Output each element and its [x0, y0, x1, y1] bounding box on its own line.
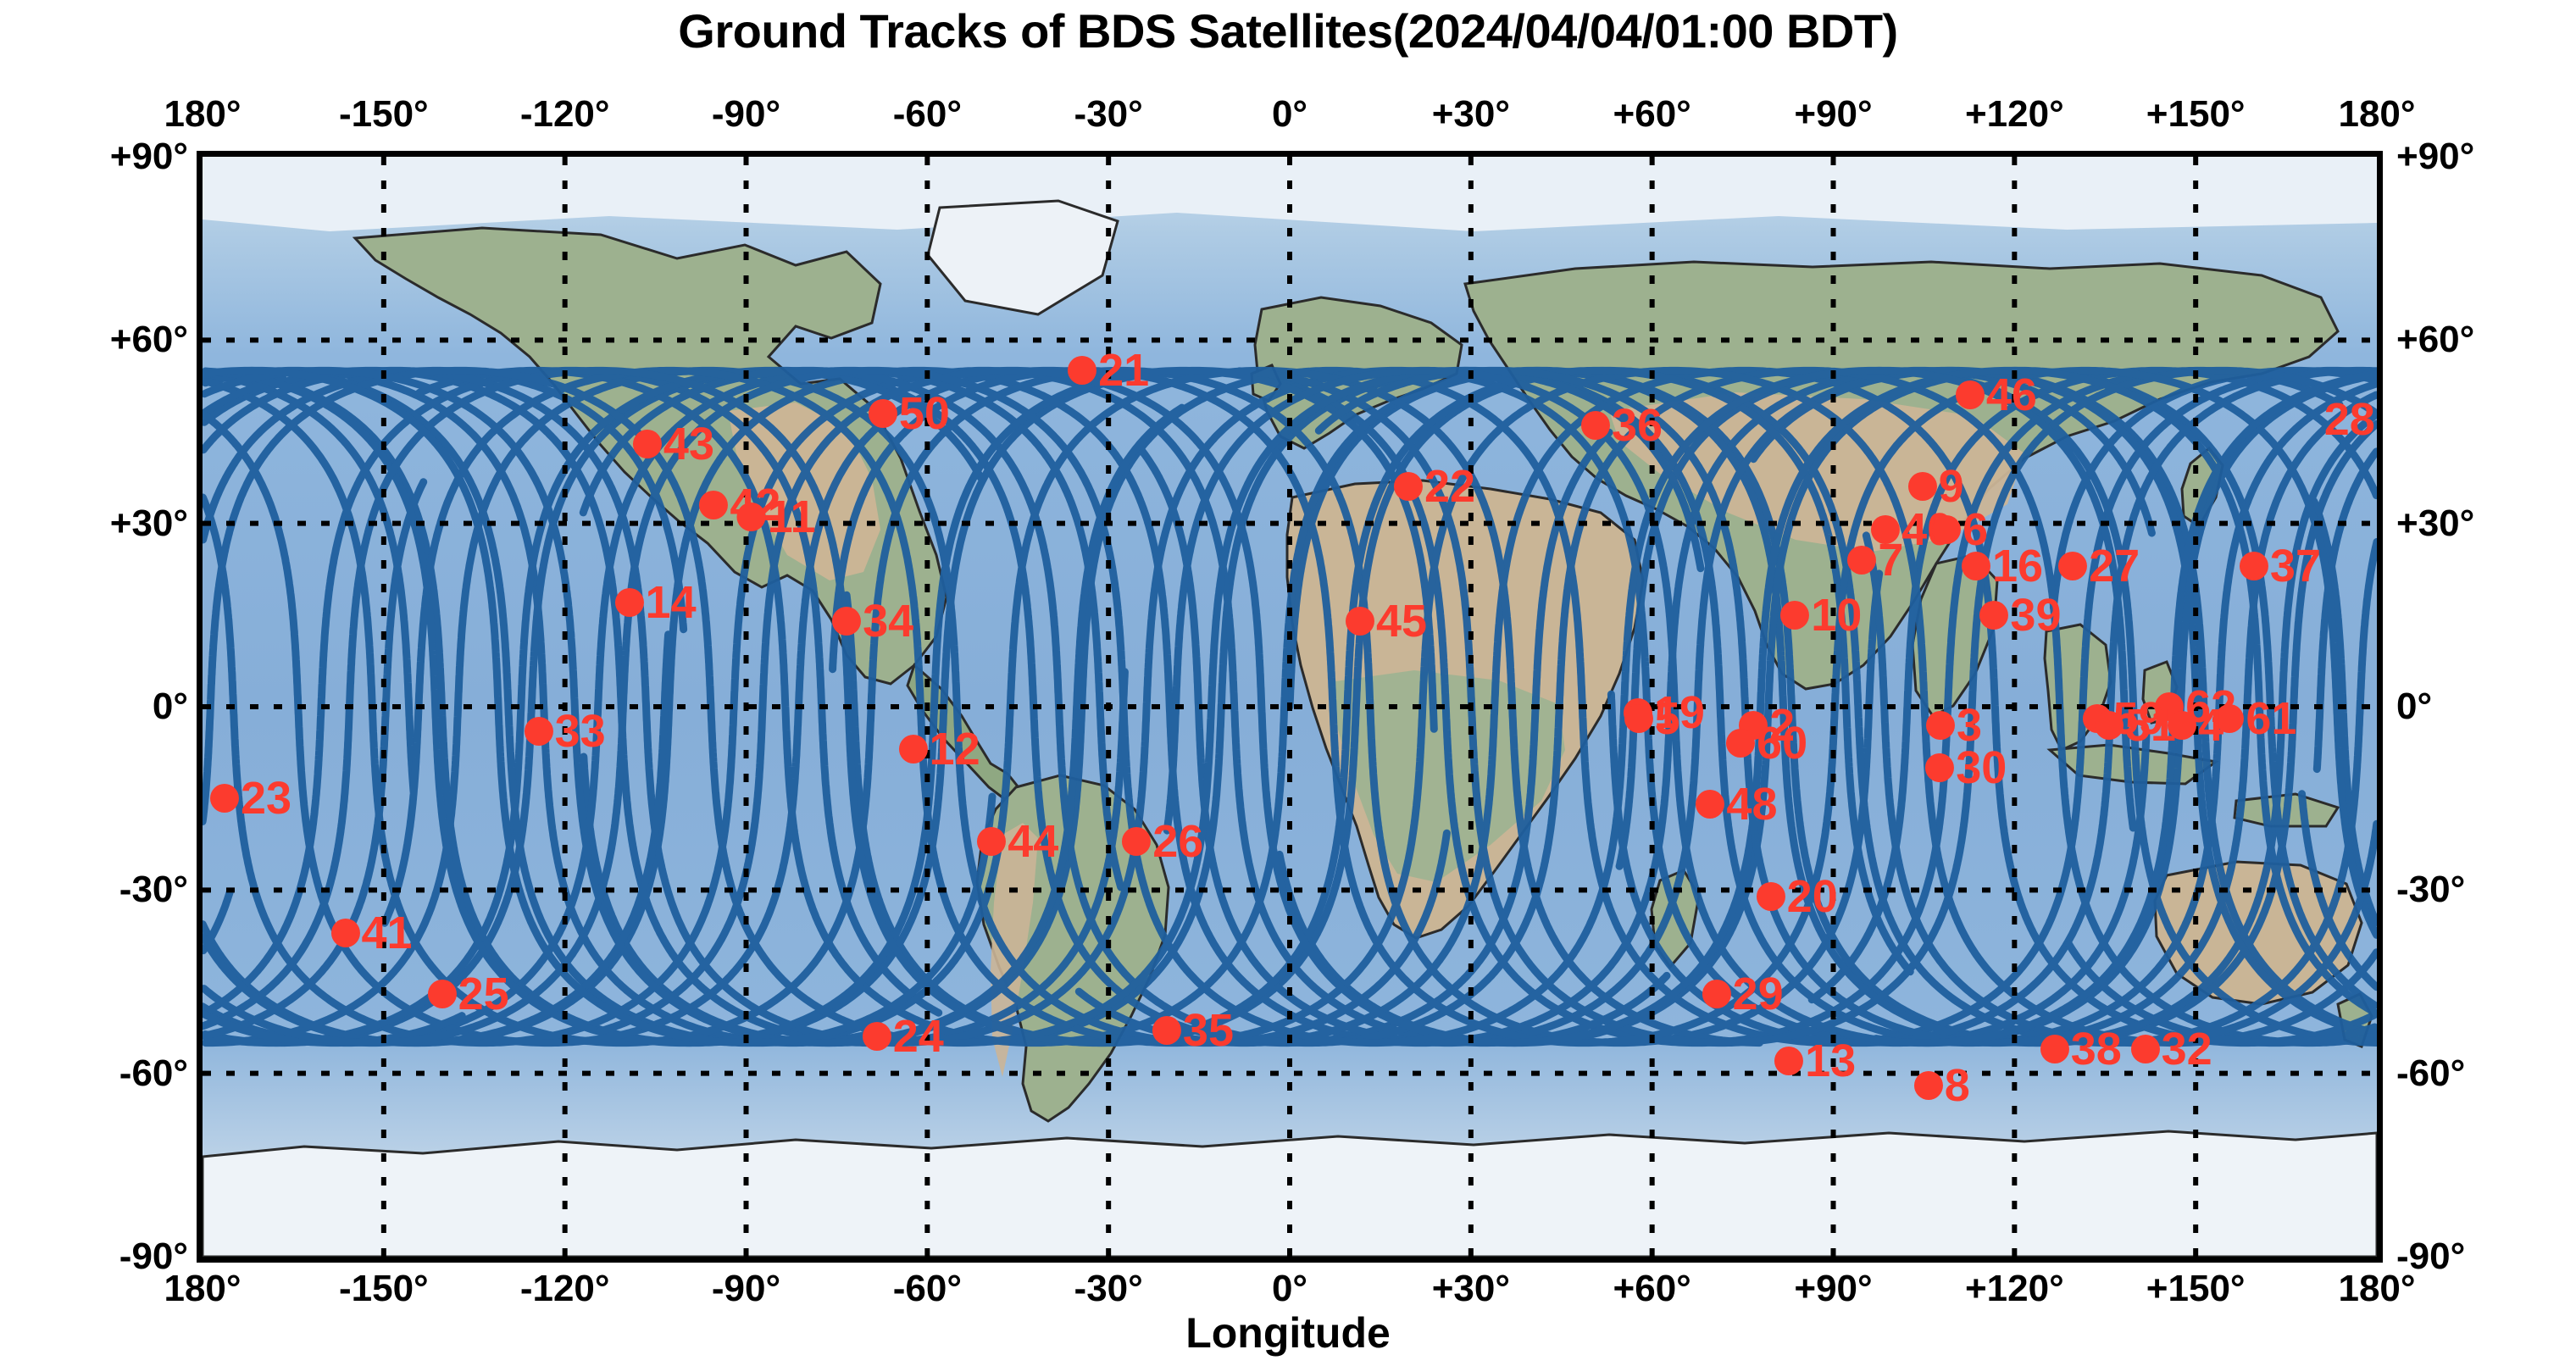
x-tick-label: -90° [712, 1268, 780, 1310]
x-tick-label: -120° [520, 1268, 610, 1310]
y-tick-label: -90° [119, 1236, 188, 1278]
x-tick-label: 0° [1272, 93, 1307, 136]
x-tick-label: +60° [1613, 1268, 1691, 1310]
x-tick-label: -90° [712, 93, 780, 136]
x-tick-label: 180° [2338, 93, 2415, 136]
y-tick-label: 0° [153, 686, 188, 728]
x-tick-label: +30° [1432, 1268, 1510, 1310]
y-tick-label: +60° [110, 319, 188, 361]
x-tick-label: -60° [893, 93, 962, 136]
y-tick-label: -60° [2396, 1052, 2465, 1095]
plot-area: 2150434628364211229406716273714344510391… [197, 151, 2383, 1263]
plot-frame [197, 151, 2383, 1263]
x-tick-label: 180° [164, 93, 241, 136]
x-tick-label: +150° [2146, 1268, 2246, 1310]
y-tick-label: +90° [110, 136, 188, 178]
x-tick-label: +150° [2146, 93, 2246, 136]
y-tick-label: -90° [2396, 1236, 2465, 1278]
y-tick-label: +30° [110, 503, 188, 545]
y-tick-label: -30° [119, 869, 188, 911]
x-tick-label: +90° [1794, 93, 1872, 136]
x-tick-label: -150° [339, 1268, 429, 1310]
x-tick-label: +120° [1965, 93, 2064, 136]
page-title: Ground Tracks of BDS Satellites(2024/04/… [0, 3, 2576, 58]
y-tick-label: +90° [2396, 136, 2474, 178]
x-tick-label: -30° [1074, 93, 1143, 136]
y-tick-label: 0° [2396, 686, 2432, 728]
x-tick-label: +90° [1794, 1268, 1872, 1310]
y-axis-label: Latitude [0, 496, 9, 869]
x-tick-label: -150° [339, 93, 429, 136]
y-tick-label: +60° [2396, 319, 2474, 361]
y-tick-label: -60° [119, 1052, 188, 1095]
y-tick-label: +30° [2396, 503, 2474, 545]
x-tick-label: -120° [520, 93, 610, 136]
x-tick-label: -30° [1074, 1268, 1143, 1310]
x-tick-label: 0° [1272, 1268, 1307, 1310]
x-tick-label: +60° [1613, 93, 1691, 136]
x-axis-label: Longitude [0, 1308, 2576, 1358]
x-tick-label: -60° [893, 1268, 962, 1310]
y-tick-label: -30° [2396, 869, 2465, 911]
x-tick-label: +30° [1432, 93, 1510, 136]
x-tick-label: +120° [1965, 1268, 2064, 1310]
